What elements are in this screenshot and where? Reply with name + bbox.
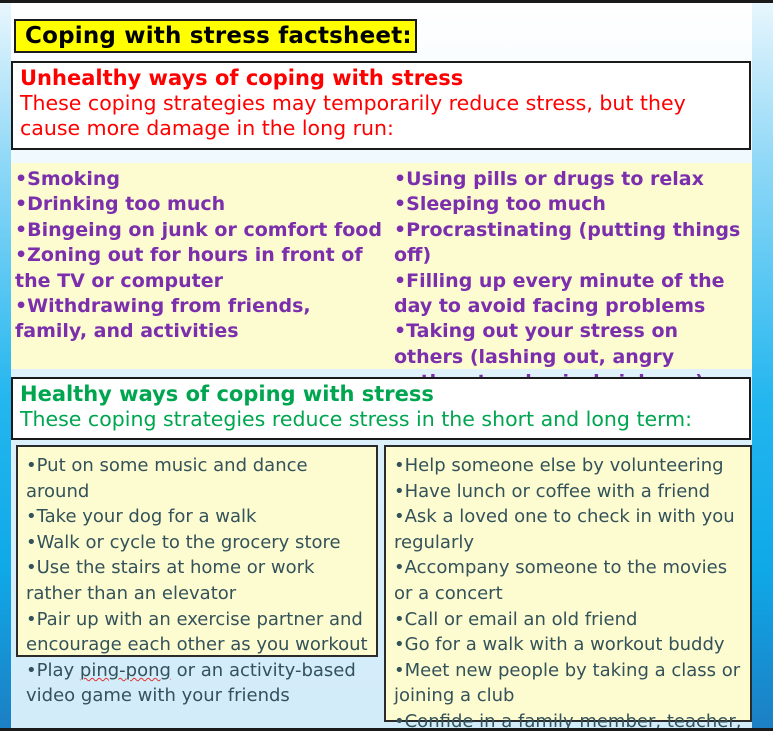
spellcheck-underline: ping-pong (80, 660, 171, 681)
list-item: •Meet new people by taking a class or jo… (394, 658, 744, 709)
list-item: •Filling up every minute of the day to a… (394, 269, 752, 320)
list-item: •Put on some music and dance around (26, 453, 370, 504)
healthy-heading: Healthy ways of coping with stress (20, 382, 741, 407)
left-decorative-strip (0, 3, 11, 728)
list-item: •Have lunch or coffee with a friend (394, 479, 744, 505)
list-item: •Using pills or drugs to relax (394, 167, 752, 192)
healthy-right-column: •Help someone else by volunteering •Have… (384, 445, 752, 722)
right-decorative-strip (752, 3, 773, 728)
list-item: •Accompany someone to the movies or a co… (394, 555, 744, 606)
list-item: •Ask a loved one to check in with you re… (394, 504, 744, 555)
unhealthy-left-column: •Smoking •Drinking too much •Bingeing on… (11, 167, 388, 369)
page-title-text: Coping with stress factsheet: (25, 23, 412, 49)
list-item: •Help someone else by volunteering (394, 453, 744, 479)
healthy-left-column: •Put on some music and dance around •Tak… (16, 445, 378, 657)
list-item: •Zoning out for hours in front of the TV… (15, 243, 388, 294)
healthy-subheading: These coping strategies reduce stress in… (20, 407, 741, 432)
unhealthy-subheading: These coping strategies may temporarily … (20, 91, 741, 141)
list-item: •Use the stairs at home or work rather t… (26, 555, 370, 606)
healthy-section-header: Healthy ways of coping with stress These… (11, 377, 751, 440)
list-item: •Bingeing on junk or comfort food (15, 218, 388, 243)
unhealthy-right-column: •Using pills or drugs to relax •Sleeping… (388, 167, 752, 369)
list-item: •Drinking too much (15, 192, 388, 217)
list-item: •Withdrawing from friends, family, and a… (15, 294, 388, 345)
healthy-right-list: •Help someone else by volunteering •Have… (394, 453, 744, 731)
list-item: •Confide in a family member, teacher, or… (394, 709, 744, 731)
list-item: •Take your dog for a walk (26, 504, 370, 530)
list-item: •Sleeping too much (394, 192, 752, 217)
list-item-misspelled: •Play ping-pong or an activity-based vid… (26, 658, 370, 709)
list-item: •Go for a walk with a workout buddy (394, 632, 744, 658)
list-item: •Walk or cycle to the grocery store (26, 530, 370, 556)
unhealthy-section-header: Unhealthy ways of coping with stress The… (11, 61, 751, 150)
list-item: •Smoking (15, 167, 388, 192)
unhealthy-right-list: •Using pills or drugs to relax •Sleeping… (394, 167, 752, 396)
factsheet-slide: Coping with stress factsheet: Unhealthy … (0, 0, 773, 731)
healthy-left-list: •Put on some music and dance around •Tak… (26, 453, 370, 709)
unhealthy-section-body: •Smoking •Drinking too much •Bingeing on… (11, 163, 752, 369)
page-title: Coping with stress factsheet: (14, 19, 417, 53)
list-item: •Call or email an old friend (394, 607, 744, 633)
list-item: •Pair up with an exercise partner and en… (26, 607, 370, 658)
unhealthy-left-list: •Smoking •Drinking too much •Bingeing on… (15, 167, 388, 345)
unhealthy-heading: Unhealthy ways of coping with stress (20, 66, 741, 91)
list-item: •Procrastinating (putting things off) (394, 218, 752, 269)
